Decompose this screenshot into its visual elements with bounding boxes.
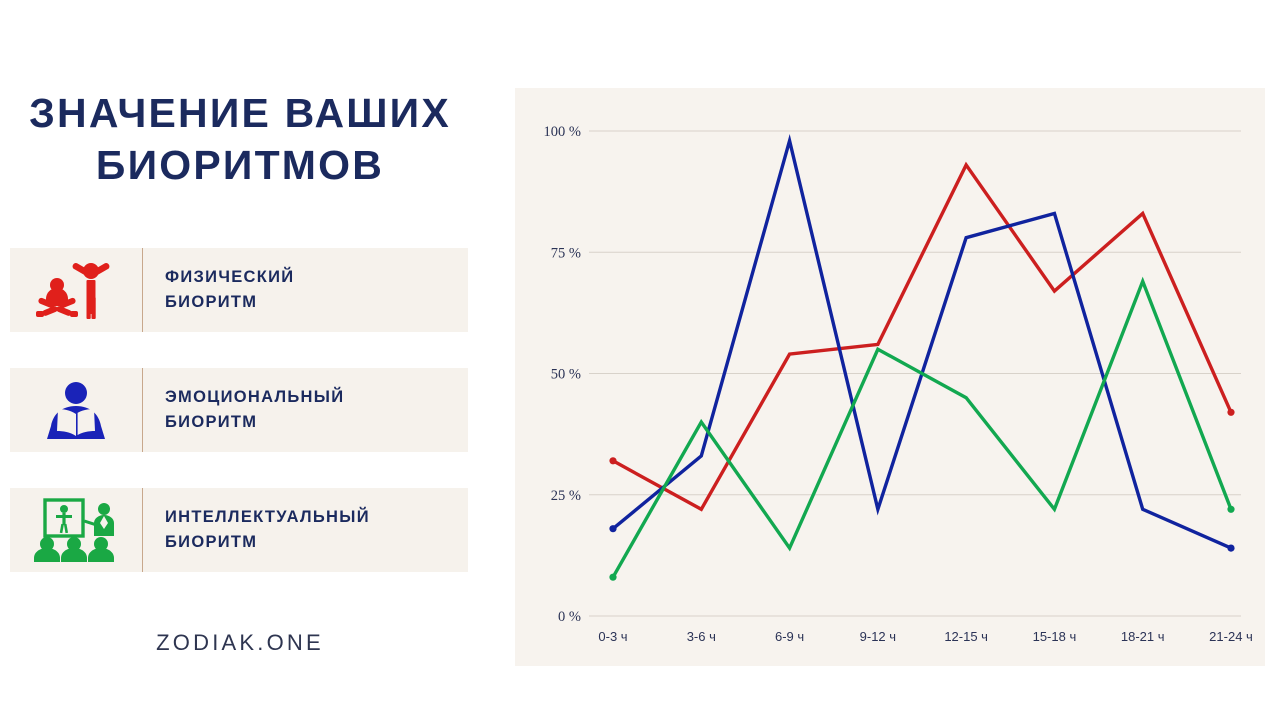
legend-label-emotional-line2: БИОРИТМ bbox=[165, 410, 468, 435]
series-endpoint-marker bbox=[1227, 409, 1234, 416]
legend-label-physical-line1: ФИЗИЧЕСКИЙ bbox=[165, 268, 294, 286]
legend-label-physical: ФИЗИЧЕСКИЙ БИОРИТМ bbox=[143, 265, 468, 315]
legend-label-intellectual: ИНТЕЛЛЕКТУАЛЬНЫЙ БИОРИТМ bbox=[143, 505, 468, 555]
legend-label-emotional-line1: ЭМОЦИОНАЛЬНЫЙ bbox=[165, 388, 344, 406]
exercise-people-icon bbox=[10, 248, 142, 332]
series-endpoint-marker bbox=[609, 457, 616, 464]
legend-label-intellectual-line2: БИОРИТМ bbox=[165, 530, 468, 555]
y-axis-tick-label: 0 % bbox=[558, 609, 581, 625]
left-panel: ЗНАЧЕНИЕ ВАШИХ БИОРИТМОВ bbox=[0, 0, 500, 720]
series-endpoint-marker bbox=[1227, 506, 1234, 513]
biorhythm-line-chart: 0 %25 %50 %75 %100 % 0-3 ч3-6 ч6-9 ч9-12… bbox=[515, 88, 1265, 666]
page-title-line2: БИОРИТМОВ bbox=[10, 140, 470, 192]
legend-label-emotional: ЭМОЦИОНАЛЬНЫЙ БИОРИТМ bbox=[143, 385, 468, 435]
legend-card-emotional[interactable]: ЭМОЦИОНАЛЬНЫЙ БИОРИТМ bbox=[10, 368, 468, 452]
x-axis-tick-label: 15-18 ч bbox=[1033, 629, 1077, 644]
series-line bbox=[613, 281, 1231, 577]
footer-brand: ZODIAK.ONE bbox=[0, 630, 480, 656]
series-endpoint-marker bbox=[1227, 545, 1234, 552]
y-axis-tick-label: 25 % bbox=[551, 488, 581, 504]
series-line bbox=[613, 141, 1231, 548]
page-title-line1: ЗНАЧЕНИЕ ВАШИХ bbox=[29, 90, 451, 136]
legend-label-physical-line2: БИОРИТМ bbox=[165, 290, 468, 315]
series-endpoint-marker bbox=[609, 574, 616, 581]
reading-person-icon bbox=[10, 368, 142, 452]
legend-label-intellectual-line1: ИНТЕЛЛЕКТУАЛЬНЫЙ bbox=[165, 508, 370, 526]
slide-root: ЗНАЧЕНИЕ ВАШИХ БИОРИТМОВ bbox=[0, 0, 1280, 720]
page-title: ЗНАЧЕНИЕ ВАШИХ БИОРИТМОВ bbox=[10, 88, 470, 191]
classroom-presentation-icon bbox=[10, 488, 142, 572]
y-axis-tick-label: 50 % bbox=[551, 367, 581, 383]
x-axis-tick-label: 9-12 ч bbox=[860, 629, 896, 644]
y-axis-tick-label: 100 % bbox=[544, 124, 581, 140]
legend-card-intellectual[interactable]: ИНТЕЛЛЕКТУАЛЬНЫЙ БИОРИТМ bbox=[10, 488, 468, 572]
x-axis-tick-label: 18-21 ч bbox=[1121, 629, 1165, 644]
x-axis-tick-label: 21-24 ч bbox=[1209, 629, 1253, 644]
chart-x-axis-labels: 0-3 ч3-6 ч6-9 ч9-12 ч12-15 ч15-18 ч18-21… bbox=[598, 629, 1252, 644]
series-endpoint-marker bbox=[609, 525, 616, 532]
x-axis-tick-label: 3-6 ч bbox=[687, 629, 716, 644]
y-axis-tick-label: 75 % bbox=[551, 245, 581, 261]
legend-card-physical[interactable]: ФИЗИЧЕСКИЙ БИОРИТМ bbox=[10, 248, 468, 332]
chart-series-layer bbox=[609, 141, 1234, 581]
chart-y-axis-labels: 0 %25 %50 %75 %100 % bbox=[544, 124, 581, 625]
series-line bbox=[613, 165, 1231, 509]
chart-gridlines bbox=[589, 131, 1241, 616]
biorhythm-chart-panel: 0 %25 %50 %75 %100 % 0-3 ч3-6 ч6-9 ч9-12… bbox=[515, 88, 1265, 666]
x-axis-tick-label: 6-9 ч bbox=[775, 629, 804, 644]
x-axis-tick-label: 12-15 ч bbox=[944, 629, 988, 644]
x-axis-tick-label: 0-3 ч bbox=[598, 629, 627, 644]
legend-card-list: ФИЗИЧЕСКИЙ БИОРИТМ bbox=[10, 248, 468, 608]
